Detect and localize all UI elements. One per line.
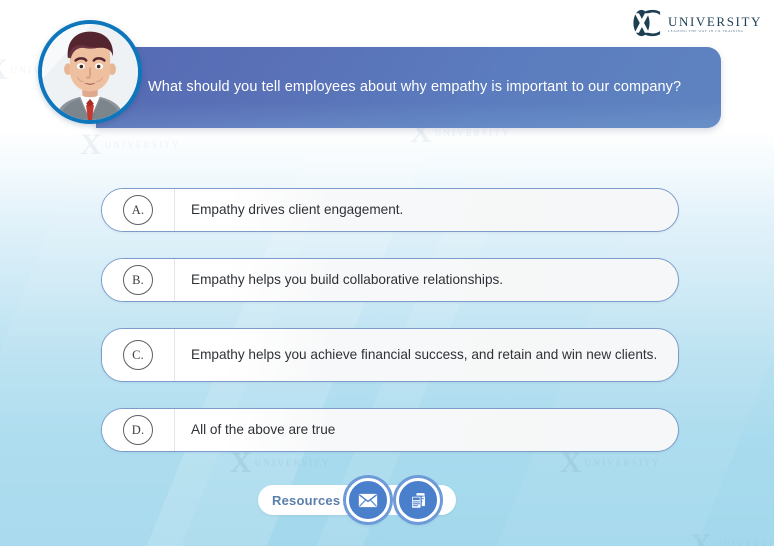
- answer-option-d[interactable]: D. All of the above are true: [101, 408, 679, 452]
- watermark-mark-icon: X: [690, 530, 712, 546]
- watermark-word: UNIVERSITY: [715, 540, 774, 546]
- answer-letter-wrap: B.: [102, 259, 175, 301]
- answer-option-text: Empathy drives client engagement.: [175, 189, 678, 231]
- brand-name: UNIVERSITY: [668, 15, 762, 28]
- answer-letter-badge: C.: [123, 340, 153, 370]
- watermark-mark-icon: X: [80, 130, 102, 160]
- avatar-inner: [42, 24, 138, 120]
- answer-letter-wrap: D.: [102, 409, 175, 451]
- brand-tagline: LEADING THE WAY IN CX TRAINING: [668, 30, 762, 34]
- answer-letter-badge: B.: [123, 265, 153, 295]
- answer-letter-badge: A.: [123, 195, 153, 225]
- background-watermark: X UNIVERSITY: [690, 530, 774, 546]
- answer-option-a[interactable]: A. Empathy drives client engagement.: [101, 188, 679, 232]
- envelope-icon: [358, 493, 378, 508]
- documents-resource-button[interactable]: [396, 478, 440, 522]
- documents-icon: [408, 490, 429, 511]
- watermark-word: UNIVERSITY: [105, 140, 181, 150]
- answer-option-b[interactable]: B. Empathy helps you build collaborative…: [101, 258, 679, 302]
- background-watermark: X UNIVERSITY: [80, 130, 181, 160]
- brand-text: UNIVERSITY LEADING THE WAY IN CX TRAININ…: [668, 13, 762, 34]
- brand-logo: UNIVERSITY LEADING THE WAY IN CX TRAININ…: [630, 6, 762, 40]
- answer-letter-wrap: A.: [102, 189, 175, 231]
- question-banner: What should you tell employees about why…: [96, 47, 721, 128]
- male-presenter-avatar: [38, 20, 142, 124]
- resources-bar: Resources: [258, 483, 456, 517]
- answer-options-list: A. Empathy drives client engagement. B. …: [101, 188, 679, 478]
- answer-option-text: All of the above are true: [175, 409, 678, 451]
- answer-option-text: Empathy helps you build collaborative re…: [175, 259, 678, 301]
- email-resource-button[interactable]: [346, 478, 390, 522]
- xc-monogram-icon: [630, 6, 664, 40]
- question-text: What should you tell employees about why…: [148, 77, 681, 98]
- answer-letter-badge: D.: [123, 415, 153, 445]
- watermark-word: UNIVERSITY: [435, 128, 511, 138]
- quiz-slide: X UNIVERSITY X UNIVERSITY X UNIVERSITY X…: [0, 0, 774, 546]
- watermark-mark-icon: X: [0, 55, 8, 85]
- answer-option-c[interactable]: C. Empathy helps you achieve financial s…: [101, 328, 679, 382]
- answer-option-text: Empathy helps you achieve financial succ…: [175, 329, 678, 381]
- answer-letter-wrap: C.: [102, 329, 175, 381]
